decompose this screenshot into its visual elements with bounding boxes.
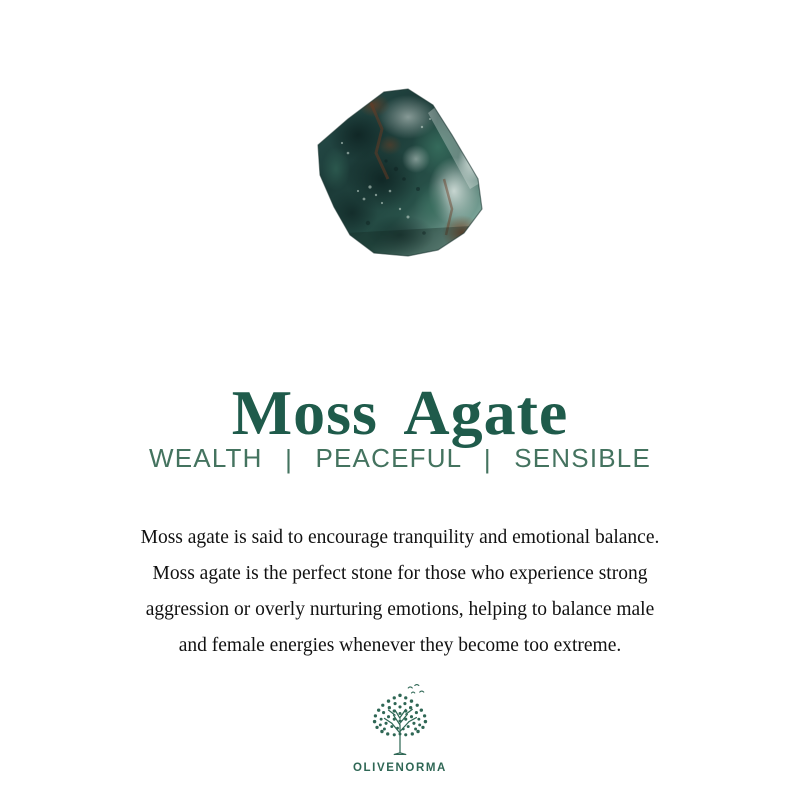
brand-wordmark: OLIVENORMA (353, 762, 447, 774)
description-line: Moss agate is the perfect stone for thos… (40, 556, 760, 592)
olive-tree-icon (359, 682, 441, 758)
description-line: aggression or overly nurturing emotions,… (40, 592, 760, 628)
birds-icon (408, 685, 424, 693)
moss-agate-stone-graphic (312, 83, 488, 263)
description-line: and female energies whenever they become… (40, 628, 760, 664)
keyword-separator: | (484, 444, 492, 475)
description-paragraph: Moss agate is said to encourage tranquil… (40, 520, 760, 664)
brand-logo: OLIVENORMA (0, 682, 800, 774)
keyword-sensible: SENSIBLE (514, 443, 651, 473)
page-title: Moss Agate (0, 379, 800, 446)
moss-agate-stone-image (0, 78, 800, 268)
product-info-card: Moss Agate WEALTH | PEACEFUL | SENSIBLE … (0, 0, 800, 800)
keyword-wealth: WEALTH (149, 443, 263, 473)
keyword-separator: | (285, 444, 293, 475)
stone-body (312, 83, 488, 263)
keyword-list: WEALTH | PEACEFUL | SENSIBLE (0, 443, 800, 474)
description-line: Moss agate is said to encourage tranquil… (40, 520, 760, 556)
keyword-peaceful: PEACEFUL (315, 443, 461, 473)
